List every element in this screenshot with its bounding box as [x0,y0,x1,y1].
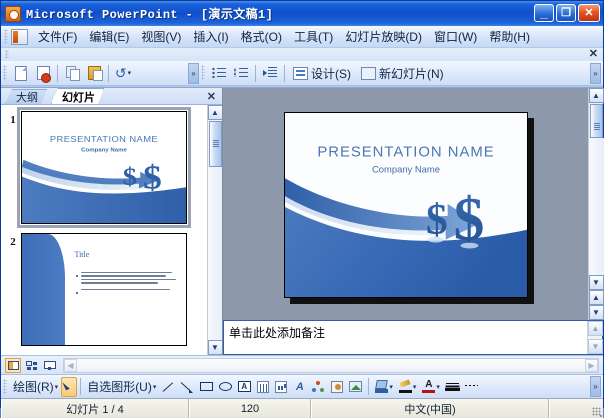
close-icon: ✕ [579,5,599,21]
tab-outline-label: 大纲 [16,89,38,105]
bullet-icon [76,292,78,294]
picture-icon [349,381,362,392]
notes-pane[interactable]: 单击此处添加备注 ▲ ▼ [223,320,603,355]
editing-pane: PRESENTATION NAME Company Name $ $ [223,88,603,355]
new-slide-label: 新幻灯片(N) [379,65,444,82]
design-label: 设计(S) [311,65,351,82]
resize-grip[interactable] [589,399,603,418]
pane-close-button[interactable]: ✕ [207,90,216,103]
new-icon [15,66,27,81]
window-title: Microsoft PowerPoint - [演示文稿1] [26,5,273,22]
drawing-toolbar-grip[interactable] [3,379,7,395]
notes-scroll-down-button[interactable]: ▼ [588,339,603,354]
new-slide-icon [361,67,376,80]
status-slide-counter: 幻灯片 1 / 4 [1,399,189,418]
notes-placeholder[interactable]: 单击此处添加备注 [224,321,587,354]
slide-2-bullets [76,272,179,297]
wordart-icon: A [293,381,306,393]
line-color-icon [399,380,412,393]
arrow-icon [181,381,194,393]
dash-style-icon [465,381,478,392]
drawing-toolbar: 绘图(R) ▾ 自选图形(U) ▾ A ▾ ▾ A [1,374,603,398]
title-bar: Microsoft PowerPoint - [演示文稿1] _ ❐ ✕ [1,1,603,26]
workspace: 大纲 幻灯片 ✕ 1 [1,87,603,355]
toolbar-overflow-button[interactable]: » [188,63,199,84]
list-item [76,272,179,286]
drawing-overflow-icon: » [593,383,597,390]
bullet-lines [81,272,179,286]
menu-item-tools[interactable]: 工具(T) [288,26,339,47]
powerpoint-icon [5,6,21,22]
diagram-icon [312,381,325,393]
main-slide[interactable]: PRESENTATION NAME Company Name $ $ [284,112,528,298]
formatting-overflow-icon: » [593,70,597,77]
fill-color-icon [375,380,388,393]
menu-item-edit[interactable]: 编辑(E) [83,26,135,47]
vertical-text-box-icon [257,381,269,393]
close-button[interactable]: ✕ [578,4,600,22]
tab-slides-label: 幻灯片 [62,89,95,105]
stage-scrollbar[interactable]: ▲ ▼ ▲ ▼ [588,88,603,320]
scrollbar-track[interactable] [589,138,604,275]
previous-slide-button[interactable]: ▲ [589,290,604,305]
status-spare [549,399,589,418]
main-slide-wrapper: PRESENTATION NAME Company Name $ $ [284,112,528,298]
status-design-template: 120 [189,399,311,418]
numbered-list-button[interactable] [208,63,230,84]
normal-view-icon [8,361,19,370]
draw-label: 绘图(R) [13,378,54,395]
menu-item-format[interactable]: 格式(O) [235,26,288,47]
maximize-icon: ❐ [557,5,575,21]
slide-editing-stage[interactable]: PRESENTATION NAME Company Name $ $ [223,88,588,320]
line-color-button[interactable]: ▾ [396,377,420,397]
menu-grip[interactable] [4,29,8,45]
minimize-button[interactable]: _ [534,4,554,22]
tab-slides[interactable]: 幻灯片 [51,88,104,104]
copy-icon [66,66,79,80]
slide-sorter-view-button[interactable] [23,358,39,373]
toolbar-separator [284,65,285,82]
paste-icon [88,66,101,80]
stage-column: PRESENTATION NAME Company Name $ $ [223,88,603,320]
numbered-list-icon [212,67,226,79]
menu-bar: 文件(F) 编辑(E) 视图(V) 插入(I) 格式(O) 工具(T) 幻灯片放… [1,26,603,48]
design-icon [293,67,308,80]
menu-item-view[interactable]: 视图(V) [135,26,187,47]
vertical-text-box-button[interactable] [254,377,272,397]
task-pane-strip: ✕ [1,48,603,61]
svg-text:$: $ [425,196,447,244]
bulleted-list-button[interactable] [230,63,252,84]
select-arrow-icon [64,381,74,393]
undo-icon: ↺ [115,66,127,80]
toolbar-separator [108,65,109,82]
autoshapes-menu-button[interactable]: 自选图形(U) ▾ [84,377,159,397]
oval-button[interactable] [216,377,235,397]
tab-outline[interactable]: 大纲 [5,89,47,104]
design-button[interactable]: 设计(S) [288,65,356,82]
line-button[interactable] [159,377,178,397]
maximize-button[interactable]: ❐ [556,4,576,22]
new-button[interactable] [10,63,32,84]
picture-button[interactable] [346,377,365,397]
clip-art-icon [331,381,343,393]
slide-thumbnail-pane: 大纲 幻灯片 ✕ 1 [1,88,223,355]
next-slide-button[interactable]: ▼ [589,305,604,320]
task-pane-close-button[interactable]: ✕ [589,48,598,61]
svg-text:$: $ [143,158,162,196]
insert-chart-button[interactable] [272,377,290,397]
draw-menu-button[interactable]: 绘图(R) ▾ [10,377,61,397]
formatting-overflow-button[interactable]: » [590,63,601,84]
formatting-toolbar-grip[interactable] [201,65,205,81]
chevron-down-icon[interactable]: ▾ [413,383,417,391]
rectangle-button[interactable] [197,377,216,397]
main-slide-artwork: PRESENTATION NAME Company Name $ $ [285,113,527,297]
bulleted-list-icon [234,67,248,79]
rectangle-icon [200,382,213,391]
chevron-down-icon: ▾ [55,383,59,391]
font-color-button[interactable]: A ▾ [419,377,443,397]
document-icon [11,29,28,45]
fill-color-button[interactable]: ▾ [372,377,396,397]
paste-button[interactable] [83,63,105,84]
undo-button[interactable]: ↺ ▾ [112,63,134,84]
scrollbar-thumb[interactable] [590,104,603,138]
horizontal-scrollbar[interactable]: ◀ ▶ [63,358,599,373]
status-bar: 幻灯片 1 / 4 120 中文(中国) [1,398,603,418]
thumbnail-number: 1 [5,111,21,126]
thumbnails-list: 1 [1,105,207,355]
scroll-down-button[interactable]: ▼ [208,340,223,355]
menu-item-file[interactable]: 文件(F) [32,26,83,47]
chevron-down-icon: ▾ [153,383,157,391]
thumbnail-scrollbar[interactable]: ▲ ▼ [207,105,222,355]
new-slide-button[interactable]: 新幻灯片(N) [356,65,449,82]
svg-text:PRESENTATION NAME: PRESENTATION NAME [317,145,494,161]
normal-view-button[interactable] [5,358,21,373]
toolbar-separator [368,378,369,395]
autoshapes-label: 自选图形(U) [87,378,152,395]
scroll-up-button[interactable]: ▲ [208,105,223,120]
toolbar-overflow-icon: » [191,70,195,77]
chevron-down-icon[interactable]: ▾ [128,69,132,77]
notes-scrollbar[interactable]: ▲ ▼ [587,321,602,354]
insert-chart-icon [275,381,287,393]
menu-item-help[interactable]: 帮助(H) [483,26,536,47]
notes-scroll-up-button[interactable]: ▲ [588,321,603,336]
scroll-left-button[interactable]: ◀ [64,359,77,372]
increase-indent-button[interactable] [259,63,281,84]
bullet-lines [81,289,179,294]
scrollbar-track[interactable] [208,167,223,340]
text-box-icon [238,381,251,392]
svg-text:PRESENTATION NAME: PRESENTATION NAME [50,134,158,143]
line-style-icon [446,381,459,392]
diagram-button[interactable] [309,377,328,397]
standard-toolbar: ↺ ▾ » 设计(S) [1,61,603,86]
menu-item-slideshow[interactable]: 幻灯片放映(D) [339,26,428,47]
thumbnail-number: 2 [5,233,21,248]
toolbar-grip-top[interactable] [5,50,9,59]
thumbnail-slide-2[interactable]: Title [21,233,187,346]
slide-show-view-button[interactable] [41,358,57,373]
open-button[interactable] [32,63,54,84]
toolbar-band: ✕ ↺ ▾ » [1,48,603,87]
scroll-right-button[interactable]: ▶ [585,359,598,372]
standard-toolbar-grip[interactable] [3,65,7,81]
drawing-overflow-button[interactable]: » [590,376,601,397]
scroll-up-button[interactable]: ▲ [589,88,604,103]
menu-item-insert[interactable]: 插入(I) [187,26,234,47]
slide-sorter-icon [26,361,37,370]
slide-show-icon [44,361,55,370]
select-objects-button[interactable] [61,377,77,397]
thumbnail-slide-1[interactable]: PRESENTATION NAME Company Name $ $ [21,111,187,224]
slide-2-artwork: Title [22,234,186,345]
toolbar-separator [80,378,81,395]
line-style-button[interactable] [443,377,462,397]
slide-1-artwork: PRESENTATION NAME Company Name $ $ [22,112,186,223]
thumbnails-area: 1 [1,105,222,355]
text-box-button[interactable] [235,377,254,397]
slide-2-title: Title [74,250,89,259]
open-icon [37,66,50,80]
window-controls: _ ❐ ✕ [534,4,600,22]
dash-style-button[interactable] [462,377,481,397]
copy-button[interactable] [61,63,83,84]
toolbar-separator [57,65,58,82]
chevron-down-icon[interactable]: ▾ [389,383,393,391]
font-color-icon: A [422,380,435,393]
svg-text:Company Name: Company Name [81,148,127,154]
clip-art-button[interactable] [328,377,346,397]
slide-2-side-band [22,234,65,345]
list-item [76,289,179,294]
toolbar-separator [255,65,256,82]
thumbnail-item[interactable]: 2 Title [5,233,203,346]
menu-item-window[interactable]: 窗口(W) [428,26,483,47]
scrollbar-thumb[interactable] [209,121,222,167]
svg-text:$: $ [123,162,137,190]
bullet-icon [76,275,78,277]
pane-tabs: 大纲 幻灯片 ✕ [1,88,222,105]
scroll-down-button[interactable]: ▼ [589,275,604,290]
line-icon [162,381,175,393]
powerpoint-window: Microsoft PowerPoint - [演示文稿1] _ ❐ ✕ 文件(… [0,0,604,408]
thumbnail-item[interactable]: 1 [5,111,203,224]
arrow-button[interactable] [178,377,197,397]
oval-icon [219,382,232,391]
wordart-button[interactable]: A [290,377,309,397]
increase-indent-icon [263,67,277,79]
minimize-icon: _ [535,5,553,21]
status-language: 中文(中国) [311,399,549,418]
view-buttons-bar: ◀ ▶ [1,355,603,374]
chevron-down-icon[interactable]: ▾ [436,383,440,391]
svg-text:Company Name: Company Name [372,163,440,174]
